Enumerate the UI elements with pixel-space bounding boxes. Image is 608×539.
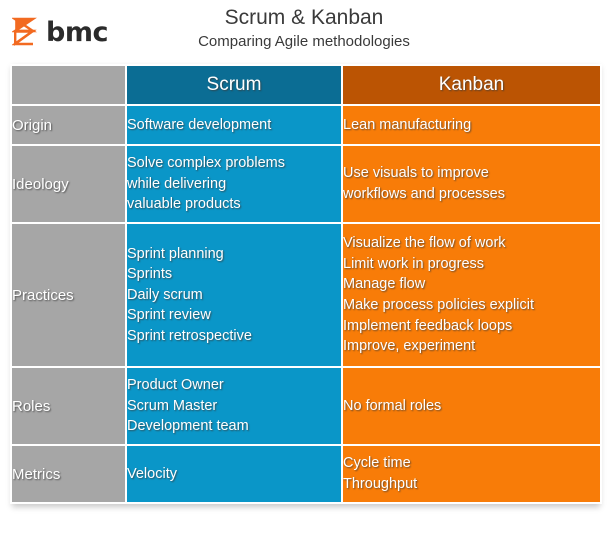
cell-line: Development team xyxy=(127,416,341,437)
row-label-roles: Roles xyxy=(12,368,125,444)
table-header-row: Scrum Kanban xyxy=(12,66,600,104)
cell-line: Improve, experiment xyxy=(343,336,600,357)
column-header-kanban: Kanban xyxy=(343,66,600,104)
cell-metrics-kanban: Cycle timeThroughput xyxy=(343,446,600,502)
row-label-origin: Origin xyxy=(12,106,125,144)
page-subtitle: Comparing Agile methodologies xyxy=(0,33,608,52)
cell-roles-scrum: Product OwnerScrum MasterDevelopment tea… xyxy=(127,368,341,444)
column-header-blank xyxy=(12,66,125,104)
cell-origin-kanban: Lean manufacturing xyxy=(343,106,600,144)
cell-roles-kanban: No formal roles xyxy=(343,368,600,444)
cell-line: Sprints xyxy=(127,264,341,285)
row-label-metrics: Metrics xyxy=(12,446,125,502)
cell-practices-scrum: Sprint planningSprintsDaily scrumSprint … xyxy=(127,224,341,366)
cell-line: Throughput xyxy=(343,474,600,495)
cell-line: Sprint retrospective xyxy=(127,326,341,347)
cell-line: Velocity xyxy=(127,464,341,485)
table-row: Origin Software development Lean manufac… xyxy=(12,106,600,144)
cell-ideology-scrum: Solve complex problemswhile deliveringva… xyxy=(127,146,341,222)
comparison-table: Scrum Kanban Origin Software development… xyxy=(10,64,602,504)
row-label-ideology: Ideology xyxy=(12,146,125,222)
cell-line: Use visuals to improve xyxy=(343,163,600,184)
cell-metrics-scrum: Velocity xyxy=(127,446,341,502)
cell-practices-kanban: Visualize the flow of workLimit work in … xyxy=(343,224,600,366)
cell-line: Product Owner xyxy=(127,375,341,396)
table-body: Origin Software development Lean manufac… xyxy=(12,106,600,502)
cell-line: No formal roles xyxy=(343,396,600,417)
cell-line: valuable products xyxy=(127,194,341,215)
cell-line: Visualize the flow of work xyxy=(343,233,600,254)
page-title: Scrum & Kanban xyxy=(0,6,608,30)
row-label-practices: Practices xyxy=(12,224,125,366)
cell-line: Cycle time xyxy=(343,453,600,474)
cell-line: while delivering xyxy=(127,174,341,195)
table-row: Roles Product OwnerScrum MasterDevelopme… xyxy=(12,368,600,444)
table-row: Metrics Velocity Cycle timeThroughput xyxy=(12,446,600,502)
title-block: Scrum & Kanban Comparing Agile methodolo… xyxy=(0,0,608,51)
column-header-scrum: Scrum xyxy=(127,66,341,104)
cell-line: Sprint planning xyxy=(127,244,341,265)
cell-line: workflows and processes xyxy=(343,184,600,205)
cell-line: Make process policies explicit xyxy=(343,295,600,316)
cell-line: Daily scrum xyxy=(127,285,341,306)
cell-line: Solve complex problems xyxy=(127,153,341,174)
cell-origin-scrum: Software development xyxy=(127,106,341,144)
page-header: bmc Scrum & Kanban Comparing Agile metho… xyxy=(0,0,608,64)
cell-line: Sprint review xyxy=(127,305,341,326)
table-row: Practices Sprint planningSprintsDaily sc… xyxy=(12,224,600,366)
comparison-table-container: Scrum Kanban Origin Software development… xyxy=(10,64,598,504)
table-row: Ideology Solve complex problemswhile del… xyxy=(12,146,600,222)
cell-ideology-kanban: Use visuals to improveworkflows and proc… xyxy=(343,146,600,222)
table-head: Scrum Kanban xyxy=(12,66,600,104)
cell-line: Lean manufacturing xyxy=(343,115,600,136)
cell-line: Software development xyxy=(127,115,341,136)
cell-line: Implement feedback loops xyxy=(343,316,600,337)
cell-line: Scrum Master xyxy=(127,396,341,417)
cell-line: Limit work in progress xyxy=(343,254,600,275)
cell-line: Manage flow xyxy=(343,274,600,295)
